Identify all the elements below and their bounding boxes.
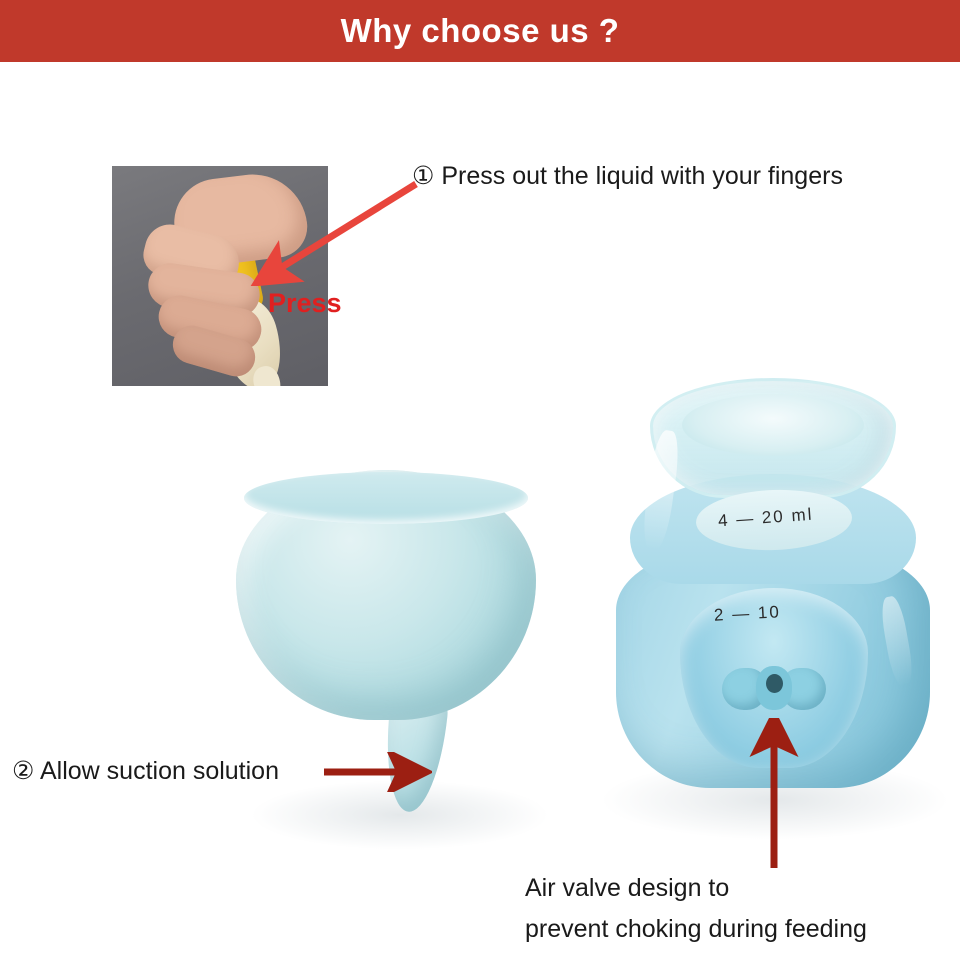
valve-caption-line-2: prevent choking during feeding bbox=[525, 909, 867, 950]
cup-rim bbox=[244, 472, 528, 524]
press-label: Press bbox=[268, 288, 342, 319]
page-title: Why choose us ? bbox=[341, 12, 620, 50]
valve-caption-line-1: Air valve design to bbox=[525, 868, 867, 909]
promo-image-root: Why choose us ? Press ① Press out the li… bbox=[0, 0, 960, 960]
step-2-text: ② Allow suction solution bbox=[12, 756, 279, 786]
cup-bowl bbox=[236, 470, 536, 720]
valve-caption: Air valve design to prevent choking duri… bbox=[525, 868, 867, 950]
bottle-scale-mid-label: 2 — 10 bbox=[714, 602, 782, 625]
valve-hole bbox=[766, 674, 783, 693]
valve-arrow-icon bbox=[742, 718, 802, 878]
header-banner: Why choose us ? bbox=[0, 0, 960, 62]
bottle-neck-opening bbox=[682, 394, 864, 456]
air-valve bbox=[722, 660, 826, 722]
press-arrow-icon bbox=[248, 176, 428, 286]
suction-arrow-icon bbox=[322, 752, 432, 792]
step-1-text: ① Press out the liquid with your fingers bbox=[412, 161, 843, 191]
